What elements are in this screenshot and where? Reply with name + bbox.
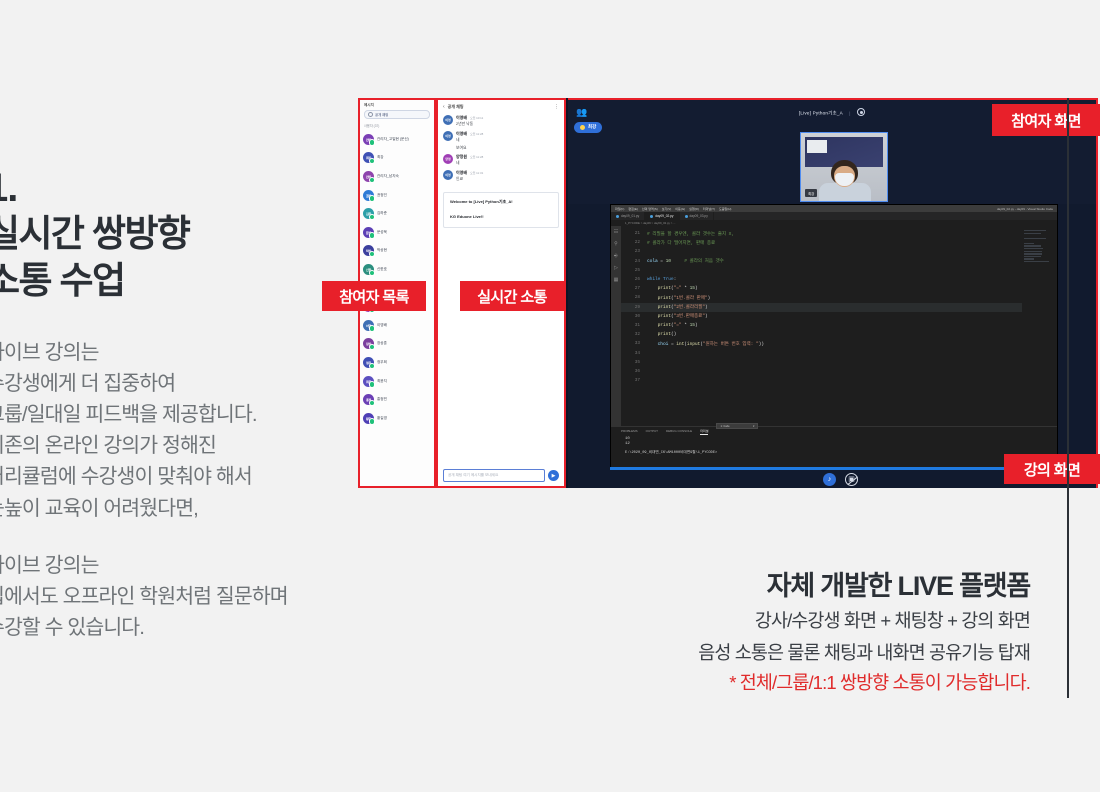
chat-header: ‹ 공개 채팅 ⋮ [438,100,564,113]
participant-name: 황길영 [377,416,387,421]
line-number: 36 [621,369,647,374]
vertical-divider [1067,98,1069,698]
run-debug-icon[interactable]: ▷ [614,266,618,271]
avatar: 최윤 [363,376,374,387]
right-line-2: 음성 소통은 물론 채팅과 내화면 공유기능 탑재 [390,639,1030,667]
right-line-1: 강사/수강생 화면 + 채팅창 + 강의 화면 [390,607,1030,635]
minimap[interactable] [1022,226,1052,426]
avatar: 황길 [363,413,374,424]
source-control-icon[interactable]: ⎆ [614,254,618,259]
left-copy-block: 1. 실시간 쌍방향 소통 수업 라이브 강의는 수강생에게 더 집중하여 그룹… [0,168,358,643]
public-chat-search[interactable]: 공개 채팅 [364,110,430,119]
code-line: 29 print("2번.콜라리필") [621,303,1022,312]
ide-menu-edit[interactable]: 편집(E) [628,207,638,211]
participant-rows: 관리관리자_고일현 (운신)최강최강관리관리자_남지숙권정권정인김하김하준문성문… [360,130,434,428]
chat-message-body: 이영배오전 11:28네보여요 [456,131,559,151]
python-file-icon [616,215,619,218]
users-count: 사용자 (37) [360,122,434,130]
ide-menu-run[interactable]: 실행(R) [689,207,699,211]
minimap-line [1024,230,1046,231]
code-line: 23 [621,247,1022,256]
search-icon[interactable]: ⚲ [614,242,618,247]
code-text: while True: [647,277,676,282]
ide-menu-help[interactable]: 도움말(H) [719,207,731,211]
session-title: [Live] Python기초_A [799,111,843,116]
callout-participant-list: 참여자 목록 [322,281,426,311]
code-text: print("1번.콜라 판매") [647,295,710,301]
body-line: 수강할 수 있습니다. [0,612,358,643]
chat-text: 인쿄 [456,177,559,182]
ide-window-title: day09_02.py - day09 - Visual Studio Code [997,207,1053,211]
line-number: 33 [621,341,647,346]
minimap-line [1024,264,1026,265]
ide-menu-go[interactable]: 이동(G) [675,207,685,211]
headline-number: 1. [0,168,358,208]
code-text: print("3번.판매종료") [647,313,708,319]
minimap-line [1024,251,1042,252]
record-icon[interactable] [857,108,865,116]
code-line: 28 print("1번.콜라 판매") [621,293,1022,302]
list-item[interactable]: 관리관리자_남지숙 [363,167,431,186]
ide-bottom-panel: PROBLEMS OUTPUT DEBUG CONSOLE 터미널 1: Cod… [611,426,1057,472]
code-text: choi = int(input("원하는 버튼 번호 입력: ")) [647,341,764,347]
line-number: 27 [621,286,647,291]
chat-input-placeholder: 공개 채팅 여기 메시지를 보내세요 [448,473,498,478]
chat-messages: 이영이영배오전 10:112년만 낙동이영이영배오전 11:28네보여요양정양정… [438,113,564,187]
line-number: 29 [621,305,647,310]
ide-menu-file[interactable]: 파일(F) [615,207,624,211]
code-line: 33 choi = int(input("원하는 버튼 번호 입력: ")) [621,339,1022,348]
line-number: 22 [621,240,647,245]
panel-tabs: PROBLEMS OUTPUT DEBUG CONSOLE 터미널 1: Cod… [611,427,1057,436]
code-line: 31 print("=" * 15) [621,321,1022,330]
chevron-down-icon: ▾ [753,425,754,428]
body-line: 그룹/일대일 피드백을 제공합니다. [0,399,358,430]
search-icon [368,112,373,117]
body-line: 집에서도 오프라인 학원처럼 질문하며 [0,581,358,612]
minimap-line [1024,266,1026,267]
ide-menu-terminal[interactable]: 터미널(T) [703,207,715,211]
tab-2[interactable]: day09_02.py [645,212,679,220]
list-item[interactable]: 최윤최윤지 [363,372,431,391]
right-title: 자체 개발한 LIVE 플랫폼 [390,564,1030,603]
code-line: 26while True: [621,275,1022,284]
chat-timestamp: 오전 11:28 [470,132,483,136]
headline-line-1: 실시간 쌍방향 [0,210,358,257]
messages-section-label: 메시지 [360,100,434,109]
headline-line-2: 소통 수업 [0,257,358,304]
code-text: # 리필을 할 경우엔, 콜라 갯수는 줄지 X, [647,231,734,237]
code-text: print("2번.콜라리필") [647,304,708,310]
participant-name: 장상훈 [377,341,387,346]
list-item[interactable]: 황길황길영 [363,409,431,428]
chat-message: 이영이영배오전 11:28네보여요 [443,131,559,151]
line-number: 32 [621,332,647,337]
minimap-line [1024,248,1043,249]
chat-message: 이영이영배오전 10:112년만 낙동 [443,115,559,127]
avatar: 관리 [363,134,374,145]
code-line: 34 [621,348,1022,357]
minimap-line [1024,240,1026,241]
tab-label: day09_01.py [621,214,639,218]
participant-name: 문성욱 [377,230,387,235]
chat-title: 공개 채팅 [448,104,464,110]
code-text: # 콜라가 다 떨어지면, 판매 종료 [647,240,715,246]
avatar: 권정 [363,190,374,201]
chat-message-body: 양정원오전 11:28네 [456,154,559,166]
participant-name: 최강 [377,155,384,160]
avatar: 이영 [443,115,453,125]
chat-welcome-notice: Welcome to [Live] Python기초_A! KG Eduone … [443,192,559,228]
list-item[interactable]: 관리관리자_고일현 (운신) [363,130,431,149]
avatar: 김하 [363,208,374,219]
line-number: 31 [621,323,647,328]
callout-participant-screen: 참여자 화면 [992,104,1100,136]
line-number: 23 [621,249,647,254]
chat-input[interactable]: 공개 채팅 여기 메시지를 보내세요 [443,469,545,482]
minimap-line [1024,238,1046,239]
chat-timestamp: 오전 11:31 [470,171,483,175]
tab-label: day09_03.py [690,214,708,218]
minimap-line [1024,243,1034,244]
chat-author: 이영배 [456,170,467,176]
avatar: 문성 [363,227,374,238]
tab-3[interactable]: day09_03.py [680,212,714,220]
body-line: 기존의 온라인 강의가 정해진 [0,430,358,461]
body-line: 라이브 강의는 [0,550,358,581]
list-item[interactable]: 홍정홍정민 [363,390,431,409]
terminal-select[interactable]: 1: Code ▾ [716,423,758,429]
body-line: 눈높이 교육이 어려웠다면, [0,493,358,524]
chat-author: 이영배 [456,115,467,121]
list-item[interactable]: 권정권정인 [363,186,431,205]
chat-timestamp: 오전 10:11 [470,116,483,120]
list-item[interactable]: 신한신한호 [363,260,431,279]
shared-screen-ide: 파일(F) 편집(E) 선택 영역(S) 보기(V) 이동(G) 실행(R) 터… [610,204,1058,472]
chat-input-row: 공개 채팅 여기 메시지를 보내세요 ▶ [438,469,564,482]
chat-text: 네 [456,138,559,143]
chat-message-body: 이영배오전 10:112년만 낙동 [456,115,559,127]
minimap-line [1024,256,1041,257]
ide-menu-selection[interactable]: 선택 영역(S) [642,207,658,211]
line-number: 28 [621,295,647,300]
avatar: 신한 [363,264,374,275]
right-copy-block: 자체 개발한 LIVE 플랫폼 강사/수강생 화면 + 채팅창 + 강의 화면 … [390,564,1030,696]
participant-name: 정우희 [377,360,387,365]
line-number: 35 [621,360,647,365]
line-number: 24 [621,259,647,264]
avatar: 관리 [363,171,374,182]
ide-activity-bar: ☷ ⚲ ⎆ ▷ ▦ [611,226,621,426]
avatar: 정우 [363,357,374,368]
ide-editor-tabs: day09_01.pyday09_02.pyday09_03.py [611,212,1057,220]
tab-terminal[interactable]: 터미널 [700,429,708,435]
line-number: 26 [621,277,647,282]
minimap-line [1024,261,1049,262]
code-line: 27 print("=" * 15) [621,284,1022,293]
line-number: 21 [621,231,647,236]
python-file-icon [650,215,653,218]
chat-author: 이영배 [456,131,467,137]
body-line: 라이브 강의는 [0,337,358,368]
presenter-badge: 최강 [574,122,602,133]
participant-name: 관리자_남지숙 [377,174,399,179]
headphone-icon[interactable]: ♪ [823,473,836,486]
list-item[interactable]: 장상장상훈 [363,335,431,354]
minimap-line [1024,258,1034,259]
presenter-name: 최강 [588,124,596,130]
minimap-line [1024,245,1041,246]
explorer-icon[interactable]: ☷ [614,230,618,235]
code-line: 21# 리필을 할 경우엔, 콜라 갯수는 줄지 X, [621,229,1022,238]
list-item[interactable]: 문성문성욱 [363,223,431,242]
participant-name: 홍정민 [377,397,387,402]
minimap-line [1024,233,1041,234]
chat-message: 양정양정원오전 11:28네 [443,154,559,166]
avatar: 박상 [363,245,374,256]
tab-problems[interactable]: PROBLEMS [621,429,638,435]
line-number: 25 [621,268,647,273]
line-number: 34 [621,351,647,356]
ide-menu-view[interactable]: 보기(V) [662,207,672,211]
body-line: 수강생에게 더 집중하여 [0,368,358,399]
tab-label: day09_02.py [655,214,673,218]
minimap-line [1024,269,1026,270]
terminal-prompt: E:\2020_09_비대면_CK\AM1000비대면9월\1_PYCODE> [611,446,1057,455]
list-item[interactable]: 정우정우희 [363,353,431,372]
participant-name: 이영배 [377,323,387,328]
minimap-line [1024,235,1026,236]
more-vertical-icon[interactable]: ⋮ [554,105,559,110]
avatar: 장상 [363,338,374,349]
tab-output[interactable]: OUTPUT [646,429,658,435]
webcam-tile[interactable]: 최강 [800,132,888,202]
code-line: 24cola = 10 # 콜라의 처음 갯수 [621,257,1022,266]
webcam-name-tag: 최강 [805,189,817,197]
participant-name: 김하준 [377,211,387,216]
list-item[interactable]: 김하김하준 [363,204,431,223]
notice-line-1: Welcome to [Live] Python기초_A! [450,199,552,205]
list-item[interactable]: 이영이영배 [363,316,431,335]
avatar: 이영 [363,320,374,331]
code-line: 37 [621,376,1022,385]
editor-scrollbar[interactable] [1052,226,1057,426]
list-item[interactable]: 최강최강 [363,149,431,168]
chat-message: 이영이영배오전 11:31인쿄 [443,170,559,182]
code-text: cola = 10 # 콜라의 처음 갯수 [647,258,724,264]
chat-text: 네 [456,161,559,166]
code-text: print() [647,332,676,337]
minimap-line [1024,271,1026,272]
code-line: 30 print("3번.판매종료") [621,312,1022,321]
chat-text: 2년만 낙동 [456,122,559,127]
terminal-select-value: 1: Code [720,425,729,428]
body-line: 커리큘럼에 수강생이 맞춰야 해서 [0,461,358,492]
participant-name: 박상현 [377,248,387,253]
code-editor[interactable]: 21# 리필을 할 경우엔, 콜라 갯수는 줄지 X,22# 콜라가 다 떨어지… [621,226,1022,426]
chat-timestamp: 오전 11:28 [470,155,483,159]
participant-name: 최윤지 [377,379,387,384]
callout-lecture-screen: 강의 화면 [1004,454,1100,484]
minimap-line [1024,253,1042,254]
code-line: 25 [621,266,1022,275]
avatar: 양정 [443,154,453,164]
code-line: 32 print() [621,330,1022,339]
mic-icon [580,125,585,130]
tab-1[interactable]: day09_01.py [611,212,645,220]
avatar: 이영 [443,131,453,141]
chat-message-body: 이영배오전 11:31인쿄 [456,170,559,182]
code-line: 22# 콜라가 다 떨어지면, 판매 종료 [621,238,1022,247]
line-number: 37 [621,378,647,383]
send-icon[interactable]: ▶ [548,470,559,481]
list-item[interactable]: 박상박상현 [363,242,431,261]
tab-debug-console[interactable]: DEBUG CONSOLE [666,429,692,435]
extensions-icon[interactable]: ▦ [614,278,619,283]
chat-text: 보여요 [456,146,559,151]
code-line: 36 [621,367,1022,376]
code-line: 35 [621,358,1022,367]
ide-titlebar: 파일(F) 편집(E) 선택 영역(S) 보기(V) 이동(G) 실행(R) 터… [611,205,1057,212]
body-paragraph-2: 라이브 강의는 집에서도 오프라인 학원처럼 질문하며 수강할 수 있습니다. [0,550,358,643]
camera-off-icon[interactable]: ▣ [845,473,858,486]
callout-live-chat: 실시간 소통 [460,281,564,311]
ide-main: ☷ ⚲ ⎆ ▷ ▦ 21# 리필을 할 경우엔, 콜라 갯수는 줄지 X,22#… [611,226,1057,426]
avatar: 홍정 [363,394,374,405]
chevron-left-icon[interactable]: ‹ [443,105,445,110]
body-paragraph-1: 라이브 강의는 수강생에게 더 집중하여 그룹/일대일 피드백을 제공합니다. … [0,337,358,524]
public-chat-label: 공개 채팅 [375,112,388,117]
page-title: 실시간 쌍방향 소통 수업 [0,210,358,305]
webcam-board-screen [807,140,827,153]
avatar: 최강 [363,152,374,163]
chat-author: 양정원 [456,154,467,160]
notice-line-2: KG Eduone Live!! [450,214,552,219]
stage-panel: 👥 최강 [Live] Python기초_A | 최강 [568,98,1098,488]
participant-name: 권정인 [377,193,387,198]
code-text: print("=" * 15) [647,323,698,328]
line-number: 30 [621,314,647,319]
code-text: print("=" * 15) [647,286,698,291]
right-note: * 전체/그룹/1:1 쌍방향 소통이 가능합니다. [390,669,1030,697]
avatar: 이영 [443,170,453,180]
python-file-icon [685,215,688,218]
participant-name: 관리자_고일현 (운신) [377,137,409,142]
participant-name: 신한호 [377,267,387,272]
